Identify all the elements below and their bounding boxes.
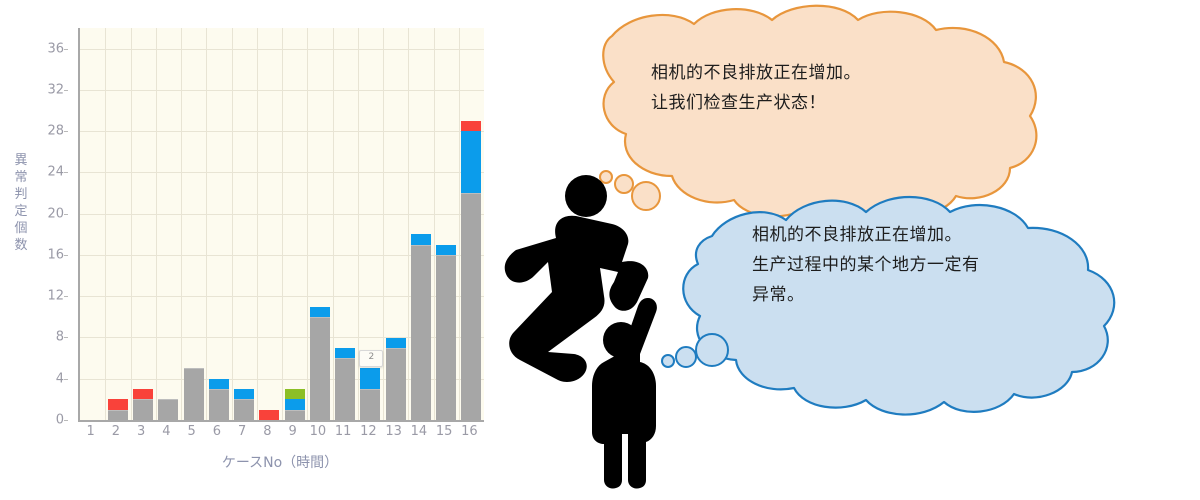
x-tick-label: 3 [137,424,145,439]
y-tick-mark [64,420,68,421]
bar-segment-blue [310,307,330,317]
bar-7[interactable] [234,389,254,420]
y-tick-mark [64,90,68,91]
bar-3[interactable] [133,389,153,420]
bar-16[interactable] [461,121,481,420]
bubble-text-line: 相机的不良排放正在增加。 [752,220,980,250]
running-person [505,175,649,382]
bar-segment-gray [209,389,229,420]
x-tick-label: 11 [335,424,352,439]
bar-10[interactable] [310,307,330,420]
y-axis-title-char: 常 [8,169,34,186]
bar-segment-blue [411,234,431,244]
y-tick-mark [64,296,68,297]
x-tick-label: 13 [385,424,402,439]
x-tick-label: 14 [411,424,428,439]
vertical-gridline [206,28,207,420]
standing-person-arm-raised [592,298,657,489]
bar-value-tooltip: 2 [359,350,383,367]
x-axis-title: ケースNo（時間） [78,452,482,472]
bar-segment-gray [335,358,355,420]
x-tick-label: 10 [310,424,327,439]
bar-segment-red [461,121,481,131]
y-tick-label: 0 [56,413,64,428]
y-axis-title-char: 定 [8,203,34,220]
vertical-gridline [131,28,132,420]
vertical-gridline [232,28,233,420]
bar-segment-gray [461,193,481,420]
bar-segment-red [108,399,128,409]
x-tick-label: 8 [263,424,271,439]
bar-4[interactable] [158,399,178,420]
x-tick-label: 2 [112,424,120,439]
bar-14[interactable] [411,234,431,420]
bar-segment-gray [285,410,305,420]
y-tick-mark [64,131,68,132]
y-tick-label: 36 [47,41,64,56]
bar-segment-blue [285,399,305,409]
y-axis-title: 異常判定個数 [8,152,34,254]
x-tick-label: 4 [162,424,170,439]
y-tick-label: 20 [47,206,64,221]
vertical-gridline [282,28,283,420]
y-axis-title-char: 数 [8,237,34,254]
vertical-gridline [434,28,435,420]
bar-segment-gray [310,317,330,420]
y-tick-mark [64,172,68,173]
bar-segment-blue [436,245,456,255]
bar-2[interactable] [108,399,128,420]
vertical-gridline [307,28,308,420]
x-tick-label: 7 [238,424,246,439]
bar-segment-blue [360,368,380,389]
bar-segment-gray [411,245,431,420]
x-tick-label: 1 [86,424,94,439]
plot-area: 2 [78,28,484,422]
bar-segment-red [133,389,153,399]
y-tick-mark [64,214,68,215]
bubble-text-line: 异常。 [752,280,980,310]
y-tick-mark [64,379,68,380]
bar-9[interactable] [285,389,305,420]
bar-8[interactable] [259,410,279,420]
y-axis-title-char: 判 [8,186,34,203]
bar-15[interactable] [436,245,456,420]
vertical-gridline [459,28,460,420]
vertical-gridline [181,28,182,420]
x-tick-label: 16 [461,424,478,439]
vertical-gridline [257,28,258,420]
bar-12[interactable] [360,368,380,420]
bar-13[interactable] [386,337,406,420]
y-axis-ticks: 04812162024283236 [34,28,68,420]
y-axis-title-char: 異 [8,152,34,169]
y-tick-mark [64,255,68,256]
y-tick-label: 16 [47,247,64,262]
x-tick-label: 15 [436,424,453,439]
vertical-gridline [105,28,106,420]
y-tick-label: 8 [56,330,64,345]
y-tick-mark [64,337,68,338]
bubble-text-line: 生产过程中的某个地方一定有 [752,250,980,280]
orange-bubble-text: 相机的不良排放正在增加。让我们检查生产状态！ [651,58,861,118]
bubble-text-line: 相机的不良排放正在增加。 [651,58,861,88]
bar-segment-gray [386,348,406,420]
bar-segment-blue [209,379,229,389]
y-axis-title-char: 個 [8,220,34,237]
bar-segment-gray [436,255,456,420]
vertical-gridline [156,28,157,420]
bar-segment-blue [234,389,254,399]
bar-11[interactable] [335,348,355,420]
bar-segment-red [259,410,279,420]
y-tick-label: 12 [47,289,64,304]
bar-segment-blue [386,338,406,348]
x-axis-ticks: 12345678910111213141516 [78,424,482,446]
y-tick-label: 4 [56,371,64,386]
bar-segment-gray [133,399,153,420]
y-tick-label: 28 [47,124,64,139]
bar-5[interactable] [184,368,204,420]
bar-segment-blue [461,131,481,193]
bubble-text-line: 让我们检查生产状态！ [651,88,861,118]
bar-segment-gray [158,399,178,420]
bar-segment-blue [335,348,355,358]
bar-segment-gray [184,368,204,420]
x-tick-label: 6 [213,424,221,439]
bar-segment-gray [234,399,254,420]
bar-segment-green [285,389,305,399]
bar-segment-gray [108,410,128,420]
x-tick-label: 9 [288,424,296,439]
bar-6[interactable] [209,379,229,420]
vertical-gridline [408,28,409,420]
x-tick-label: 12 [360,424,377,439]
anomaly-count-chart: 異常判定個数 04812162024283236 2 1234567891011… [0,0,520,500]
y-tick-mark [64,49,68,50]
x-tick-label: 5 [187,424,195,439]
y-tick-label: 32 [47,82,64,97]
bar-segment-gray [360,389,380,420]
y-tick-label: 24 [47,165,64,180]
vertical-gridline [383,28,384,420]
vertical-gridline [333,28,334,420]
blue-bubble-text: 相机的不良排放正在增加。生产过程中的某个地方一定有异常。 [752,220,980,310]
